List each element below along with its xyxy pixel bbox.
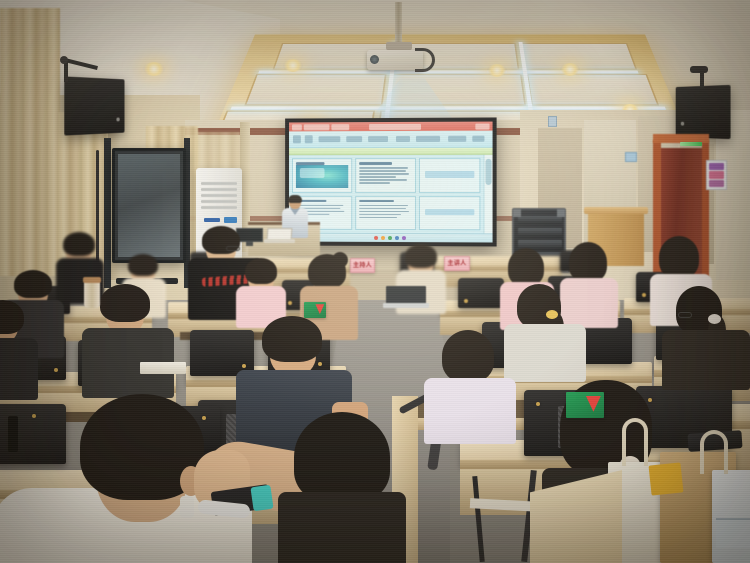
rack-unit xyxy=(518,228,562,236)
slide-title-block xyxy=(425,209,475,216)
tote-print-graphic xyxy=(716,518,750,548)
laptop-base xyxy=(383,303,429,308)
status-indicator-icon[interactable] xyxy=(402,236,406,240)
app-tab[interactable] xyxy=(292,124,302,130)
podium-laptop[interactable] xyxy=(264,228,294,244)
student-laptop[interactable] xyxy=(386,286,426,308)
hair xyxy=(294,412,390,502)
ceiling-downlight xyxy=(487,64,507,77)
hair xyxy=(442,330,494,382)
hair xyxy=(262,316,322,362)
beverage-cup xyxy=(84,280,100,308)
eyeglasses-icon xyxy=(226,246,240,251)
chair-front-left[interactable] xyxy=(0,404,66,464)
confidence-monitor-screen xyxy=(236,228,263,242)
name-tent-text: 主讲人 xyxy=(448,261,467,267)
tote-yellow-envelope xyxy=(649,462,684,495)
tv-bracket-left xyxy=(64,62,68,82)
slide-thumbnail[interactable] xyxy=(355,158,416,193)
app-window-controls[interactable] xyxy=(475,123,489,129)
name-tent-card: 主持人 xyxy=(350,258,375,273)
aircon-vent-slat xyxy=(201,188,237,191)
aircon-brand-mark xyxy=(204,218,220,222)
ribbon-button[interactable] xyxy=(319,136,341,142)
tv-indicator-icon xyxy=(116,117,119,121)
rack-corner xyxy=(557,209,565,217)
ribbon-button[interactable] xyxy=(293,135,301,143)
status-indicator-icon[interactable] xyxy=(388,236,392,240)
slide-thumbnail[interactable] xyxy=(419,196,480,231)
display-cart-frame-left xyxy=(104,138,111,288)
door-notice-sign xyxy=(706,160,727,190)
aircon-vent-slat xyxy=(201,206,237,209)
hair xyxy=(405,244,437,268)
green-booklet[interactable] xyxy=(304,302,326,318)
status-indicator-icon[interactable] xyxy=(381,236,385,240)
wall-tv-right[interactable] xyxy=(676,85,731,139)
printed-tote-bag[interactable] xyxy=(712,470,750,563)
app-document-title xyxy=(369,123,421,129)
torso xyxy=(504,324,586,382)
window-curtain-left xyxy=(0,8,60,276)
exit-light-strip xyxy=(680,142,702,146)
ceiling-downlight xyxy=(560,63,580,76)
rack-unit xyxy=(518,216,562,224)
eyeglasses-icon xyxy=(678,312,692,318)
wristband xyxy=(180,496,194,518)
app-ribbon xyxy=(289,131,493,149)
rack-corner xyxy=(513,209,521,217)
ceiling-downlight xyxy=(283,59,303,72)
confidence-monitor-stand xyxy=(246,242,253,246)
tv-indicator-icon xyxy=(681,122,684,126)
ribbon-button[interactable] xyxy=(346,136,362,142)
projector-lens-icon xyxy=(370,55,379,64)
aircon-badge xyxy=(224,217,237,223)
app-tab[interactable] xyxy=(304,124,330,130)
slide-thumbnail[interactable] xyxy=(355,195,416,230)
hair xyxy=(14,270,52,298)
ribbon-button[interactable] xyxy=(305,135,313,143)
lectern-top xyxy=(584,207,648,214)
ribbon-button[interactable] xyxy=(472,136,484,142)
chair-row2-4[interactable] xyxy=(458,278,504,308)
ribbon-button[interactable] xyxy=(368,136,388,142)
wall-poster-small xyxy=(625,152,637,162)
hair xyxy=(63,232,95,256)
tv-bracket-knob-left xyxy=(60,56,68,64)
wall-tv-left[interactable] xyxy=(64,76,124,135)
hair xyxy=(100,284,150,322)
slide-thumbnail[interactable] xyxy=(292,158,352,192)
ceiling-downlight xyxy=(143,62,165,76)
ribbon-button[interactable] xyxy=(396,136,410,142)
hair xyxy=(508,248,544,286)
rack-unit xyxy=(518,240,562,248)
sign-icon-quiet xyxy=(709,171,724,178)
sign-icon-notice xyxy=(709,180,724,187)
hair-bun xyxy=(332,252,348,268)
green-booklet[interactable] xyxy=(566,392,604,418)
laptop-lid xyxy=(386,286,426,304)
hair xyxy=(659,236,699,278)
hair-scrunchie xyxy=(546,310,558,319)
display-cart-glass xyxy=(118,154,180,257)
scrollbar-thumb[interactable] xyxy=(485,159,491,185)
tote-handle xyxy=(622,418,648,466)
aircon-vent-slat xyxy=(201,182,237,185)
sign-icon-no-smoking xyxy=(709,163,724,170)
hair xyxy=(245,258,277,284)
display-cart-panel[interactable] xyxy=(112,148,186,263)
torso xyxy=(424,378,516,444)
lecture-hall-photo: 主持人 主讲人 xyxy=(0,0,750,563)
confidence-monitor xyxy=(236,228,263,246)
status-indicator-icon[interactable] xyxy=(374,236,378,240)
ceiling-projector xyxy=(367,48,429,74)
slide-thumbnail[interactable] xyxy=(419,158,480,193)
phone-case-accent xyxy=(250,485,273,512)
app-tab[interactable] xyxy=(331,124,349,130)
torso xyxy=(560,278,618,328)
hair xyxy=(128,254,158,276)
torso xyxy=(0,338,38,400)
torso xyxy=(278,492,406,563)
aircon-vent-slat xyxy=(201,194,237,197)
aircon-vent-slat xyxy=(201,200,237,203)
torso xyxy=(662,330,750,390)
hair xyxy=(569,242,607,282)
status-indicator-icon[interactable] xyxy=(395,236,399,240)
tv-bracket-knob-right xyxy=(690,66,708,73)
name-tent-card: 主讲人 xyxy=(444,256,470,271)
tote-handle xyxy=(700,430,728,474)
name-tent-text: 主持人 xyxy=(353,263,372,269)
cup-lid xyxy=(83,277,101,283)
podium-laptop-base xyxy=(264,239,295,243)
slide-image xyxy=(296,165,348,187)
projector-mount xyxy=(386,42,412,50)
ribbon-button[interactable] xyxy=(416,136,440,142)
display-cart-cable xyxy=(96,150,99,270)
hair-scrunchie xyxy=(708,314,721,324)
wall-switch-plate[interactable] xyxy=(548,116,557,127)
ribbon-button[interactable] xyxy=(448,136,466,142)
presenter-hair xyxy=(288,195,302,203)
app-scrollbar[interactable] xyxy=(483,155,492,234)
notebook-on-desk xyxy=(140,362,186,374)
slide-title-block xyxy=(425,171,475,178)
